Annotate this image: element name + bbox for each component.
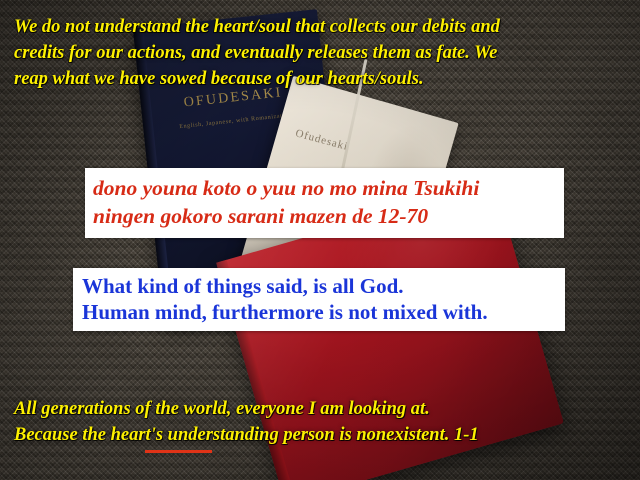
top-caption: We do not understand the heart/soul that… xyxy=(14,14,500,92)
bottom-caption: All generations of the world, everyone I… xyxy=(14,396,479,448)
heart-underline xyxy=(145,450,212,453)
top-caption-line-3: reap what we have sowed because of our h… xyxy=(14,66,500,92)
top-caption-line-1: We do not understand the heart/soul that… xyxy=(14,14,500,40)
top-caption-line-2: credits for our actions, and eventually … xyxy=(14,40,500,66)
slide-canvas: OFUDESAKI English, Japanese, with Romani… xyxy=(0,0,640,480)
bottom-caption-line-2: Because the heart's understanding person… xyxy=(14,422,479,448)
romaji-line-2: ningen gokoro sarani mazen de 12-70 xyxy=(93,202,564,230)
english-line-1: What kind of things said, is all God. xyxy=(82,273,565,299)
bottom-caption-line-1: All generations of the world, everyone I… xyxy=(14,396,479,422)
romaji-line-1: dono youna koto o yuu no mo mina Tsukihi xyxy=(93,174,564,202)
english-translation-box: What kind of things said, is all God. Hu… xyxy=(73,268,565,331)
english-line-2: Human mind, furthermore is not mixed wit… xyxy=(82,299,565,325)
romaji-text-box: dono youna koto o yuu no mo mina Tsukihi… xyxy=(85,168,564,238)
